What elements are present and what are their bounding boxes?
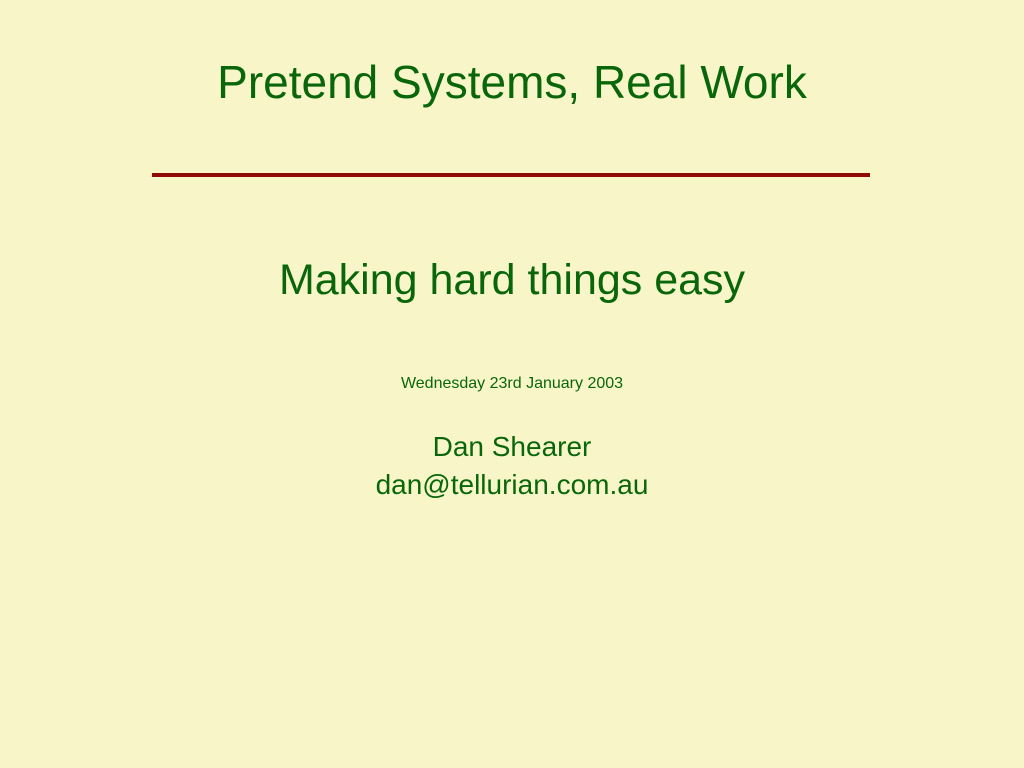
author-block: Dan Shearer dan@tellurian.com.au	[0, 428, 1024, 504]
slide-title: Pretend Systems, Real Work	[0, 58, 1024, 108]
presentation-slide: Pretend Systems, Real Work Making hard t…	[0, 0, 1024, 768]
slide-date: Wednesday 23rd January 2003	[0, 374, 1024, 393]
author-name: Dan Shearer	[0, 428, 1024, 466]
title-divider-rule	[152, 173, 870, 177]
author-email[interactable]: dan@tellurian.com.au	[0, 466, 1024, 504]
slide-subtitle: Making hard things easy	[0, 257, 1024, 303]
